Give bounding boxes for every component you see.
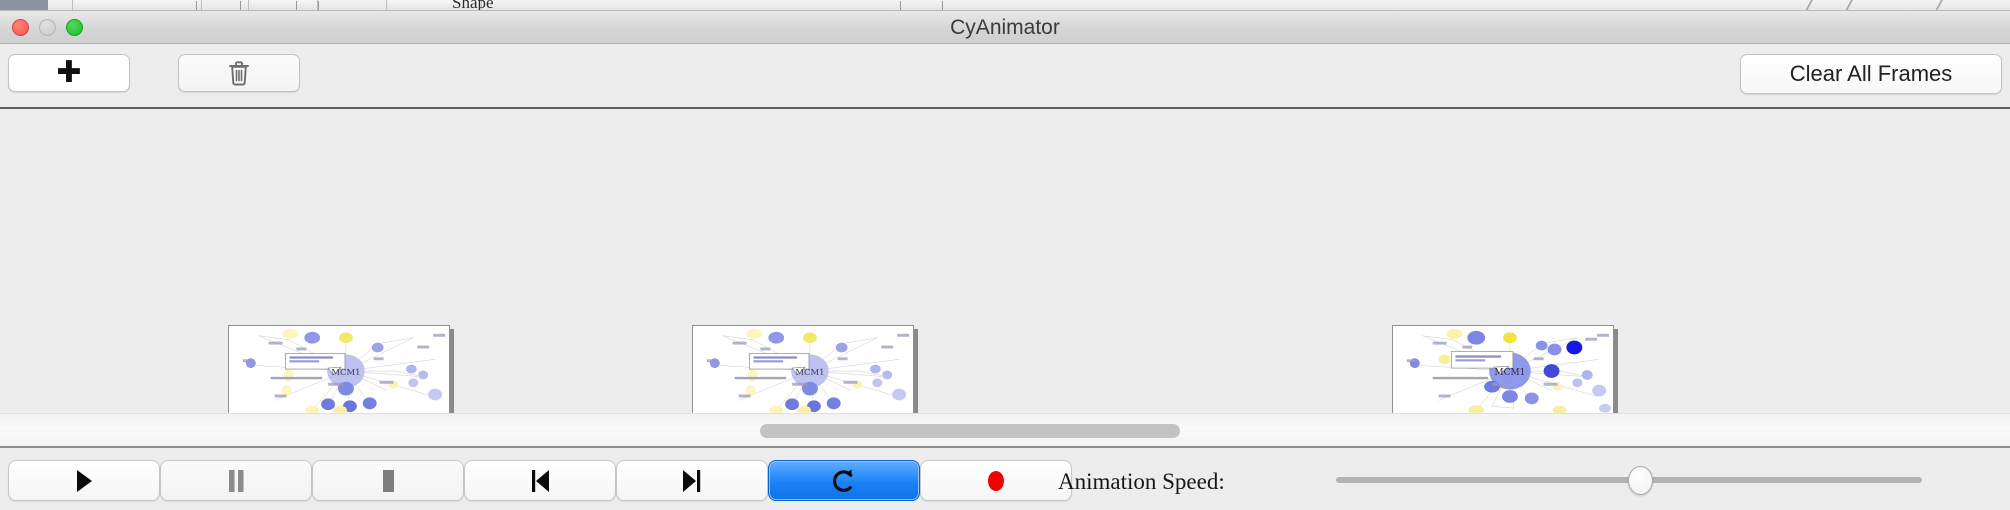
trash-icon <box>227 59 251 87</box>
cyanimator-window: Shape CyAnimator ✚ Clear <box>0 0 2010 510</box>
background-tick <box>296 1 297 11</box>
skip-back-icon <box>528 468 552 494</box>
plus-icon: ✚ <box>56 58 81 88</box>
background-window-label: Shape <box>452 0 494 11</box>
delete-frame-button[interactable] <box>178 54 300 92</box>
skip-to-start-button[interactable] <box>464 460 616 501</box>
title-bar: CyAnimator <box>0 11 2010 44</box>
play-button[interactable] <box>8 460 160 501</box>
record-button[interactable] <box>920 460 1072 501</box>
window-title: CyAnimator <box>0 16 2010 40</box>
background-tick <box>942 1 943 11</box>
background-chip <box>72 0 202 11</box>
scrollbar-thumb[interactable] <box>760 424 1180 438</box>
playback-control-bar: Animation Speed: <box>0 450 2010 510</box>
pause-button[interactable] <box>160 460 312 501</box>
clear-all-frames-button[interactable]: Clear All Frames <box>1740 54 2002 94</box>
frame-hub-label: MCM1 <box>331 367 360 377</box>
record-icon <box>984 468 1008 494</box>
loop-button[interactable] <box>768 460 920 501</box>
frame-thumbnail-3[interactable]: MCM1 <box>1392 325 1614 413</box>
background-tick <box>900 1 901 11</box>
background-slash <box>1935 0 1955 11</box>
toolbar: ✚ Clear All Frames <box>0 44 2010 109</box>
loop-icon <box>831 467 857 495</box>
background-tick <box>196 1 197 11</box>
timeline-panel[interactable]: MCM1 <box>0 111 2010 413</box>
frame-thumbnail-2[interactable]: MCM1 <box>692 325 914 413</box>
background-slash <box>1845 0 1865 11</box>
frame-hub-label: MCM1 <box>1495 368 1526 378</box>
pause-icon <box>225 468 247 494</box>
skip-to-end-button[interactable] <box>616 460 768 501</box>
frame-thumbnail-1[interactable]: MCM1 <box>228 325 450 413</box>
background-chip <box>248 0 318 11</box>
animation-speed-label: Animation Speed: <box>1058 469 1225 495</box>
background-selected-chip <box>0 0 48 11</box>
background-slash <box>1805 0 1825 11</box>
timeline-scrollbar[interactable] <box>0 413 2010 448</box>
background-tick <box>318 1 319 11</box>
slider-thumb[interactable] <box>1628 466 1653 495</box>
frame-hub-label: MCM1 <box>795 367 824 377</box>
background-tick <box>240 1 241 11</box>
skip-forward-icon <box>680 468 704 494</box>
play-icon <box>73 468 95 494</box>
clear-all-frames-label: Clear All Frames <box>1790 61 1953 87</box>
animation-speed-slider[interactable] <box>1336 471 1922 489</box>
add-frame-button[interactable]: ✚ <box>8 54 130 92</box>
background-window-strip: Shape <box>0 0 2010 11</box>
stop-button[interactable] <box>312 460 464 501</box>
stop-icon <box>377 468 399 494</box>
